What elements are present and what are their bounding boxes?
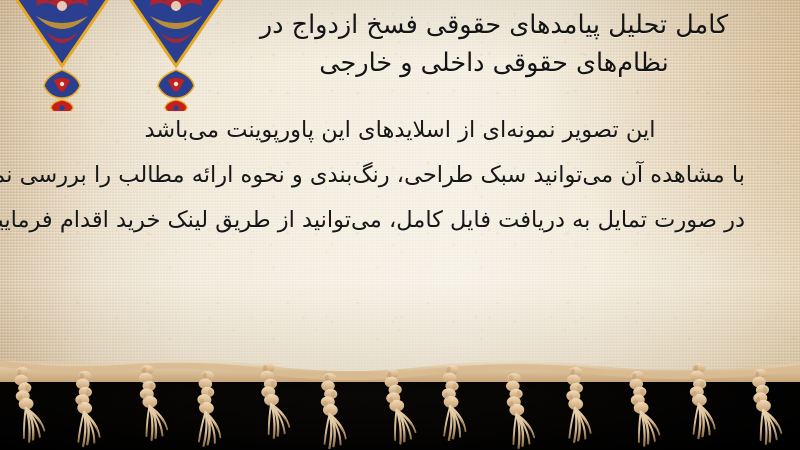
slide-body-line-3: در صورت تمایل به دریافت فایل کامل، می‌تو…	[55, 198, 745, 243]
carpet-medallion-left-icon	[6, 0, 118, 115]
bottom-black-band	[0, 374, 800, 450]
slide-title-line-1: کامل تحلیل پیامدهای حقوقی فسخ ازدواج در	[244, 6, 744, 44]
carpet-medallion-right-icon	[120, 0, 232, 115]
slide-body-line-1: این تصویر نمونه‌ای از اسلایدهای این پاور…	[55, 108, 745, 153]
presentation-slide: کامل تحلیل پیامدهای حقوقی فسخ ازدواج در …	[0, 0, 800, 450]
slide-body-line-2: با مشاهده آن می‌توانید سبک طراحی، رنگ‌بن…	[55, 153, 745, 198]
slide-title: کامل تحلیل پیامدهای حقوقی فسخ ازدواج در …	[244, 6, 744, 82]
slide-body: این تصویر نمونه‌ای از اسلایدهای این پاور…	[55, 108, 745, 243]
slide-title-line-2: نظام‌های حقوقی داخلی و خارجی	[244, 44, 744, 82]
